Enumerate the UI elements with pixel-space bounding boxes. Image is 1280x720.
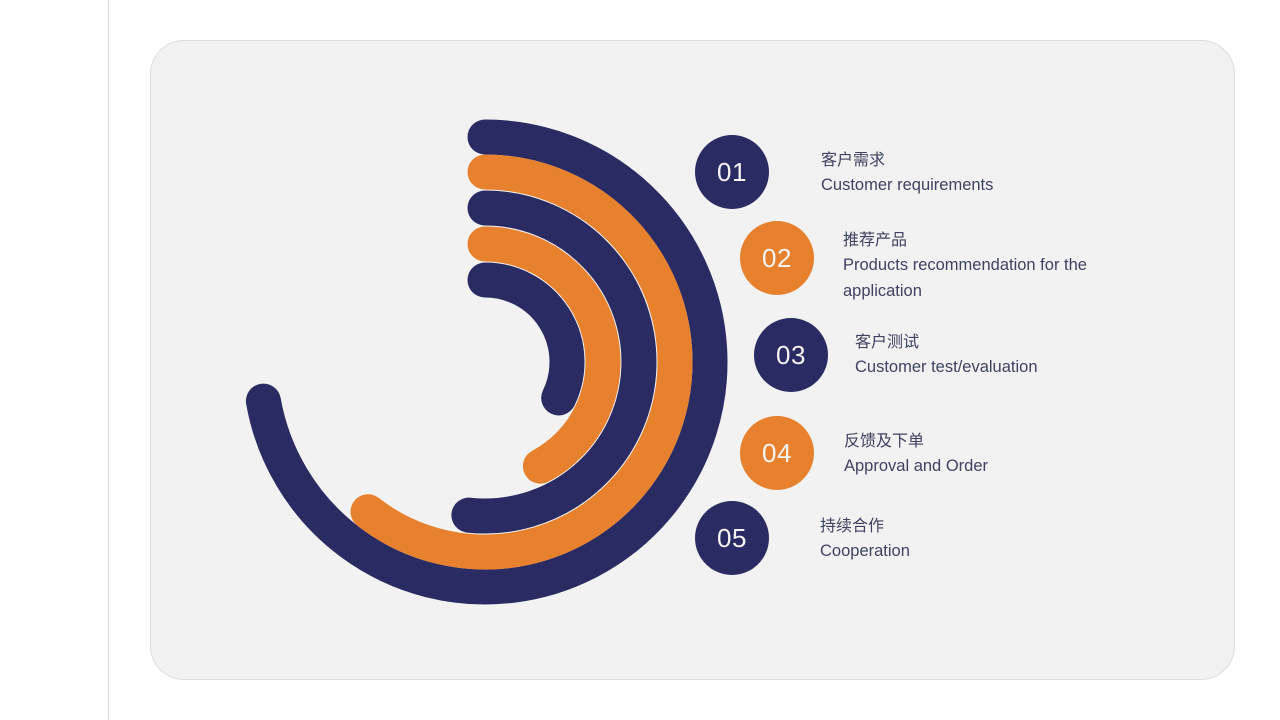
step-number-badge: 04 <box>740 416 814 490</box>
step-text-block: 推荐产品 Products recommendation for the app… <box>843 221 1113 304</box>
step-title-cn: 反馈及下单 <box>844 431 988 453</box>
step-title-en: Cooperation <box>820 538 910 564</box>
spiral-arc-5 <box>485 280 567 398</box>
step-item-02[interactable]: 02 推荐产品 Products recommendation for the … <box>740 221 1113 304</box>
step-text-block: 持续合作 Cooperation <box>820 501 910 564</box>
step-item-03[interactable]: 03 客户测试 Customer test/evaluation <box>754 318 1038 392</box>
step-title-cn: 推荐产品 <box>843 230 1113 252</box>
step-text-block: 客户需求 Customer requirements <box>821 135 993 198</box>
step-number-badge: 05 <box>695 501 769 575</box>
step-text-block: 客户测试 Customer test/evaluation <box>855 318 1038 380</box>
step-title-en: Approval and Order <box>844 453 988 479</box>
step-number-badge: 02 <box>740 221 814 295</box>
step-title-en: Products recommendation for the applicat… <box>843 252 1113 304</box>
step-number-badge: 01 <box>695 135 769 209</box>
spiral-diagram-graphic <box>235 115 735 615</box>
step-item-01[interactable]: 01 客户需求 Customer requirements <box>695 135 993 209</box>
step-title-en: Customer test/evaluation <box>855 354 1038 380</box>
step-item-04[interactable]: 04 反馈及下单 Approval and Order <box>740 416 988 490</box>
step-title-cn: 客户需求 <box>821 150 993 172</box>
step-item-05[interactable]: 05 持续合作 Cooperation <box>695 501 910 575</box>
step-title-cn: 持续合作 <box>820 516 910 538</box>
step-title-en: Customer requirements <box>821 172 993 198</box>
left-guide-rule <box>108 0 109 720</box>
step-title-cn: 客户测试 <box>855 332 1038 354</box>
step-text-block: 反馈及下单 Approval and Order <box>844 416 988 479</box>
step-number-badge: 03 <box>754 318 828 392</box>
steps-list: 01 客户需求 Customer requirements 02 推荐产品 Pr… <box>680 120 1200 600</box>
